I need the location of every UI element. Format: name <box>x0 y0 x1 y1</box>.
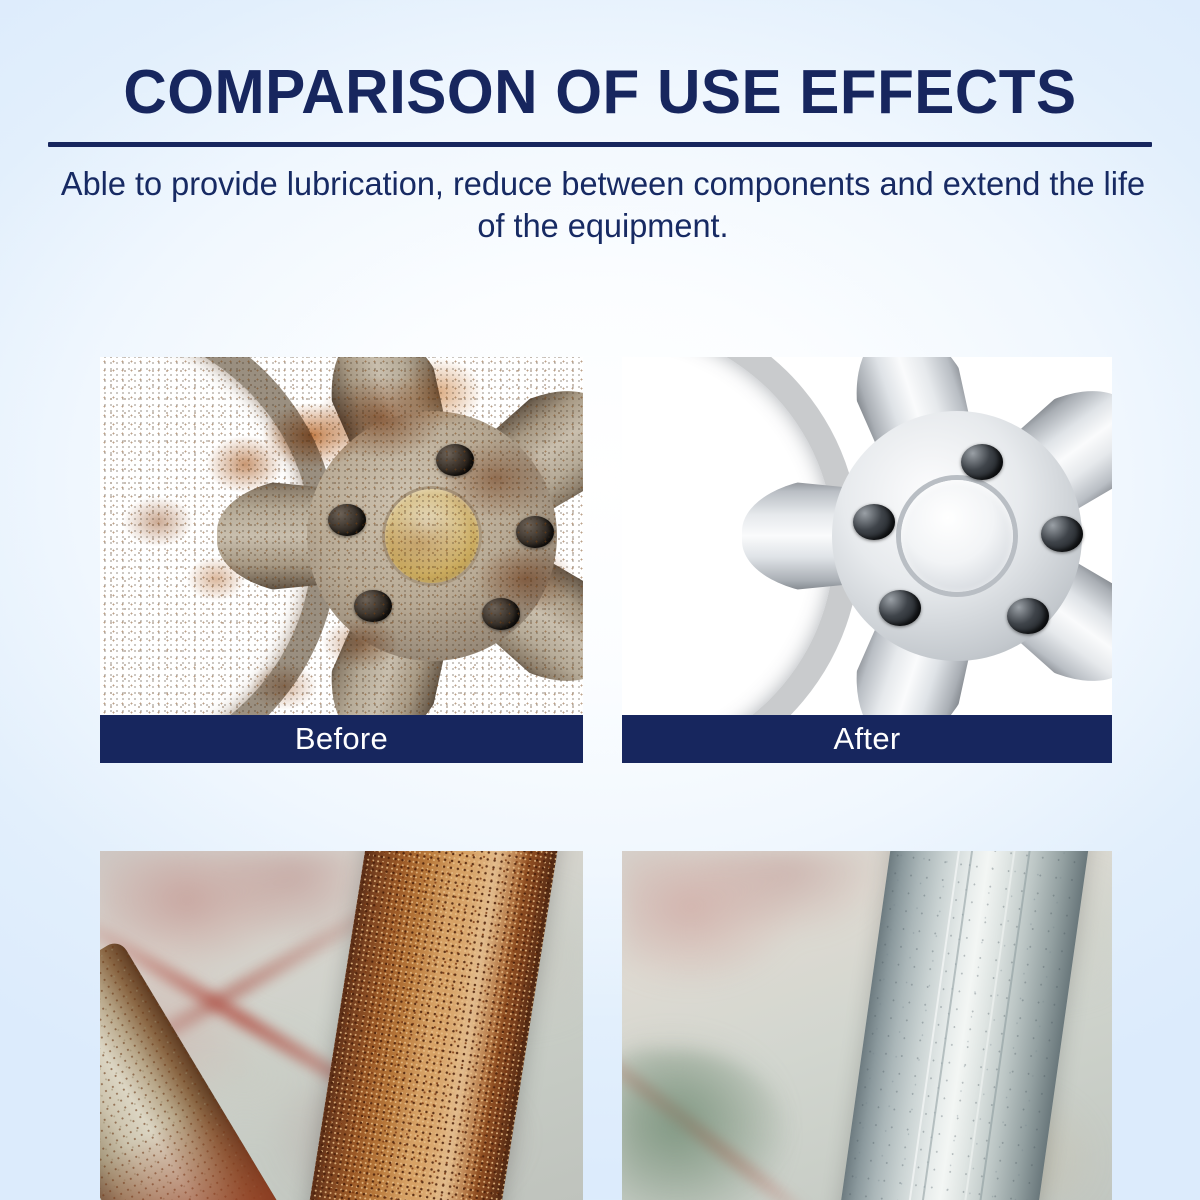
center-cap <box>901 480 1013 592</box>
page-title: COMPARISON OF USE EFFECTS <box>65 62 1136 124</box>
lug-nut <box>516 516 554 548</box>
lug-nut <box>482 598 520 630</box>
photo-rusty-pipe <box>100 851 583 1200</box>
title-divider <box>48 142 1152 147</box>
comparison-grid: Before <box>100 357 1112 1200</box>
page-subtitle: Able to provide lubrication, reduce betw… <box>56 163 1149 247</box>
lug-nut <box>1007 598 1049 634</box>
comparison-row-pipe: Before After <box>100 851 1112 1200</box>
center-cap <box>385 489 479 583</box>
photo-clean-wheel <box>622 357 1112 715</box>
lug-nut <box>1041 516 1083 552</box>
caption-after: After <box>622 715 1112 763</box>
caption-before: Before <box>100 715 583 763</box>
page-header: COMPARISON OF USE EFFECTS Able to provid… <box>0 62 1200 247</box>
rusty-wheel-illustration <box>100 357 583 715</box>
panel-wheel-after[interactable]: After <box>622 357 1112 763</box>
wheel-hub <box>757 357 1112 715</box>
clean-wheel-illustration <box>622 357 1112 715</box>
lug-nut <box>853 504 895 540</box>
photo-rusty-wheel <box>100 357 583 715</box>
lug-nut <box>961 444 1003 480</box>
lug-nut <box>879 590 921 626</box>
panel-pipe-before[interactable]: Before <box>100 851 583 1200</box>
lug-nut <box>436 444 474 476</box>
lug-nut <box>354 590 392 622</box>
panel-wheel-before[interactable]: Before <box>100 357 583 763</box>
panel-pipe-after[interactable]: After <box>622 851 1112 1200</box>
lug-nut <box>328 504 366 536</box>
photo-clean-pipe <box>622 851 1112 1200</box>
comparison-row-wheel: Before <box>100 357 1112 763</box>
wheel-hub <box>232 357 584 715</box>
